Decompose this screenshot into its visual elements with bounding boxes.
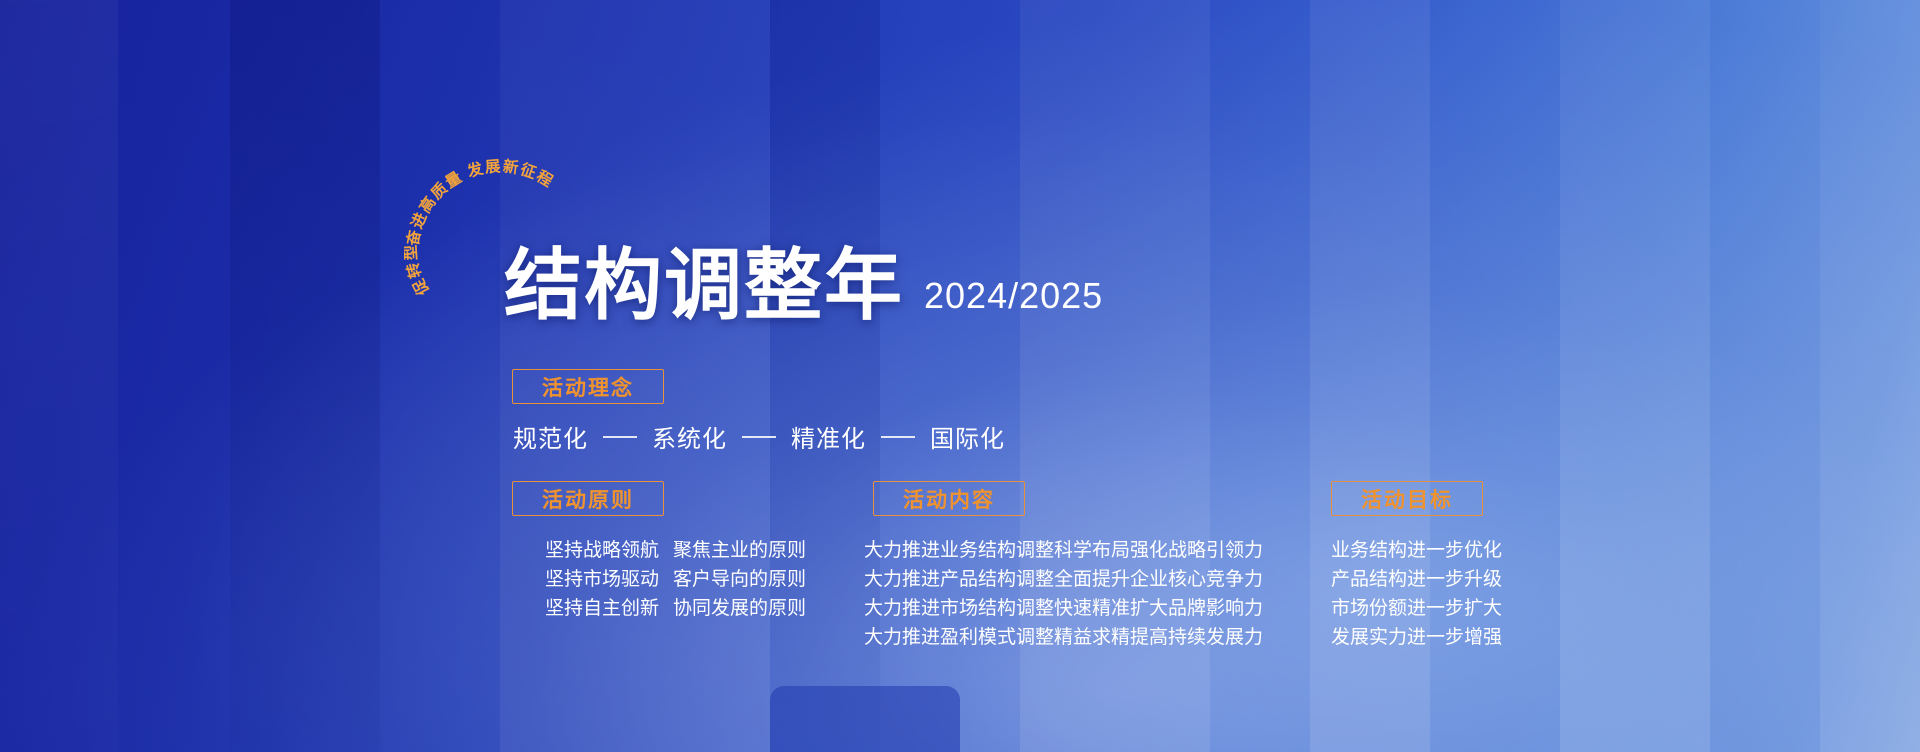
circular-slogan-top: 奋进高质量 发展新征程 <box>404 156 557 248</box>
list-item-right: 客户导向的原则 <box>673 565 806 593</box>
list-item: 坚持自主创新 协同发展的原则 <box>545 594 806 622</box>
list-item: 坚持战略领航 聚焦主业的原则 <box>545 536 806 564</box>
list-item-left: 发展实力进一步增强 <box>1331 623 1502 651</box>
badge-activity-concept: 活动理念 <box>512 369 664 404</box>
list-item-left: 大力推进市场结构调整 <box>864 594 1054 622</box>
tagline-word: 精准化 <box>791 419 866 454</box>
list-item-left: 坚持战略领航 <box>545 536 673 564</box>
list-item-left: 产品结构进一步升级 <box>1331 565 1502 593</box>
list-item-right: 快速精准扩大品牌影响力 <box>1054 594 1263 622</box>
background-band <box>230 0 380 752</box>
list-item-left: 大力推进盈利模式调整 <box>864 623 1054 651</box>
list-item-left: 坚持市场驱动 <box>545 565 673 593</box>
concept-tagline: 规范化 系统化 精准化 国际化 <box>512 419 1006 454</box>
tagline-separator-icon <box>603 436 637 438</box>
principle-column: 坚持战略领航 聚焦主业的原则 坚持市场驱动 客户导向的原则 坚持自主创新 协同发… <box>545 536 806 623</box>
title-year-range: 2024/2025 <box>924 275 1103 325</box>
tagline-word: 规范化 <box>513 419 588 454</box>
list-item-left: 大力推进业务结构调整 <box>864 536 1054 564</box>
list-item-left: 市场份额进一步扩大 <box>1331 594 1502 622</box>
list-item-left: 业务结构进一步优化 <box>1331 536 1502 564</box>
goal-column: 业务结构进一步优化 产品结构进一步升级 市场份额进一步扩大 发展实力进一步增强 <box>1331 536 1502 652</box>
content-column: 大力推进业务结构调整 科学布局强化战略引领力 大力推进产品结构调整 全面提升企业… <box>864 536 1263 652</box>
list-item-left: 大力推进产品结构调整 <box>864 565 1054 593</box>
badge-activity-goal: 活动目标 <box>1331 481 1483 516</box>
list-item: 坚持市场驱动 客户导向的原则 <box>545 565 806 593</box>
list-item: 产品结构进一步升级 <box>1331 565 1502 593</box>
list-item-left: 坚持自主创新 <box>545 594 673 622</box>
background-band <box>1560 0 1710 752</box>
page-title: 结构调整年 <box>504 247 904 325</box>
list-item: 大力推进盈利模式调整 精益求精提高持续发展力 <box>864 623 1263 651</box>
list-item-right: 全面提升企业核心竞争力 <box>1054 565 1263 593</box>
list-item: 大力推进业务结构调整 科学布局强化战略引领力 <box>864 536 1263 564</box>
campaign-banner: 奋进高质量 发展新征程 促转型 增动能 结构调整年 2024/2025 活动理念… <box>0 0 1920 752</box>
tagline-separator-icon <box>881 436 915 438</box>
list-item-right: 聚焦主业的原则 <box>673 536 806 564</box>
tagline-word: 系统化 <box>652 419 727 454</box>
list-item: 发展实力进一步增强 <box>1331 623 1502 651</box>
background-band <box>0 0 118 752</box>
tagline-separator-icon <box>742 436 776 438</box>
title-block: 结构调整年 2024/2025 <box>504 247 1103 325</box>
list-item: 大力推进产品结构调整 全面提升企业核心竞争力 <box>864 565 1263 593</box>
badge-activity-content: 活动内容 <box>873 481 1025 516</box>
background-band <box>1820 0 1920 752</box>
list-item-right: 科学布局强化战略引领力 <box>1054 536 1263 564</box>
list-item: 大力推进市场结构调整 快速精准扩大品牌影响力 <box>864 594 1263 622</box>
list-item-right: 协同发展的原则 <box>673 594 806 622</box>
tagline-word: 国际化 <box>930 419 1005 454</box>
background-block <box>770 686 960 752</box>
list-item: 业务结构进一步优化 <box>1331 536 1502 564</box>
list-item: 市场份额进一步扩大 <box>1331 594 1502 622</box>
list-item-right: 精益求精提高持续发展力 <box>1054 623 1263 651</box>
badge-activity-principle: 活动原则 <box>512 481 664 516</box>
